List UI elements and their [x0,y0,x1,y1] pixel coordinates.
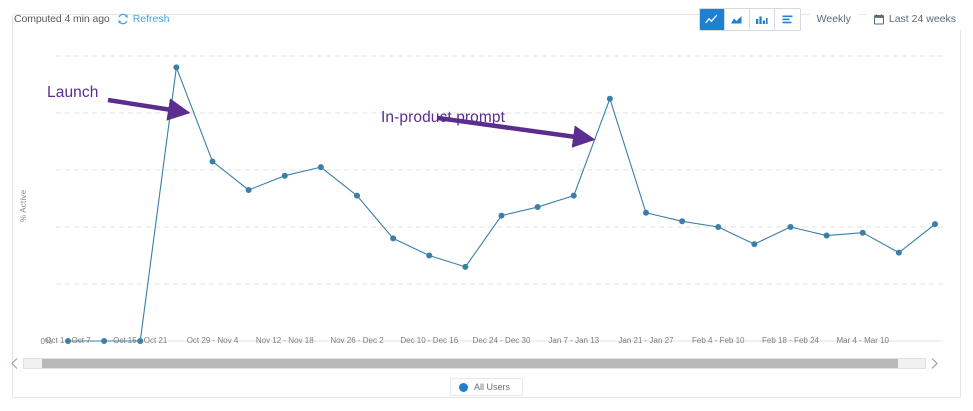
data-point-marker [643,210,649,216]
x-axis-tick-label: Jan 7 - Jan 13 [548,336,599,345]
line-chart-icon [705,14,718,25]
chart-panel: Computed 4 min ago Refresh [0,0,973,411]
date-range-selector-button[interactable]: Last 24 weeks [867,9,963,30]
data-point-marker [751,241,757,247]
scroll-right-arrow-icon[interactable] [928,354,941,372]
area-chart-icon-button[interactable] [725,9,750,30]
data-point-marker [354,193,360,199]
x-axis-tick-label: Feb 4 - Feb 10 [692,336,744,345]
header-left-group: Computed 4 min ago Refresh [14,13,169,25]
refresh-icon [117,13,129,25]
y-axis-title: % Active [19,190,28,222]
x-axis-tick-label: Oct 1 - Oct 7 [45,336,90,345]
data-point-marker [788,224,794,230]
data-point-marker [535,204,541,210]
chart-legend: All Users [0,378,973,396]
horizontal-bar-chart-icon [781,14,794,25]
x-axis-tick-label: Feb 18 - Feb 24 [762,336,819,345]
data-point-marker [390,235,396,241]
data-point-marker [426,253,432,259]
interval-label: Weekly [817,13,851,25]
horizontal-scrollbar[interactable] [8,352,941,374]
annotation-launch: Launch [47,84,98,102]
scrollbar-track[interactable] [23,358,926,369]
data-point-marker [860,230,866,236]
data-point-marker [896,250,902,256]
bar-chart-icon-button[interactable] [750,9,775,30]
line-chart-canvas[interactable]: 0% [0,38,947,348]
bar-chart-icon [755,14,768,25]
data-point-marker [571,193,577,199]
annotation-arrow-1 [108,100,178,111]
data-point-marker [607,96,613,102]
legend-item-label: All Users [474,382,510,392]
scrollbar-thumb[interactable] [42,359,898,368]
x-axis-tick-label: Dec 24 - Dec 30 [473,336,531,345]
data-point-marker [210,158,216,164]
refresh-label: Refresh [133,13,170,25]
legend-item-all-users[interactable]: All Users [450,378,523,396]
x-axis-tick-label: Oct 15 - Oct 21 [113,336,167,345]
area-chart-icon [730,14,743,25]
chart-plot-area: % Active 0% [0,38,947,348]
x-axis-tick-label: Nov 12 - Nov 18 [256,336,314,345]
chart-header: Computed 4 min ago Refresh [0,0,973,38]
data-point-marker [318,164,324,170]
chart-type-toggle-group [699,8,801,31]
date-range-label: Last 24 weeks [889,13,956,25]
x-axis-tick-label: Jan 21 - Jan 27 [618,336,673,345]
data-point-marker [282,173,288,179]
header-right-group: Weekly Last 24 weeks [699,8,963,31]
annotation-in-product-prompt: In-product prompt [381,109,505,127]
x-axis-tick-label: Nov 26 - Dec 2 [330,336,383,345]
data-point-marker [499,213,505,219]
x-axis-tick-label: Dec 10 - Dec 16 [400,336,458,345]
computed-timestamp: Computed 4 min ago [14,13,110,25]
data-point-marker [715,224,721,230]
interval-selector-button[interactable]: Weekly [810,9,858,30]
x-axis-tick-label: Oct 29 - Nov 4 [187,336,239,345]
legend-color-swatch [459,383,468,392]
data-point-marker [679,218,685,224]
x-axis-tick-label: Mar 4 - Mar 10 [837,336,889,345]
data-point-marker [462,264,468,270]
refresh-button[interactable]: Refresh [117,13,170,25]
data-point-marker [824,233,830,239]
horizontal-bar-chart-icon-button[interactable] [775,9,800,30]
x-axis-labels: Oct 1 - Oct 7Oct 15 - Oct 21Oct 29 - Nov… [0,336,947,352]
scroll-left-arrow-icon[interactable] [8,354,21,372]
calendar-icon [874,14,884,25]
line-chart-icon-button[interactable] [700,9,725,30]
data-point-marker [932,221,938,227]
data-point-marker [173,64,179,70]
data-point-marker [246,187,252,193]
